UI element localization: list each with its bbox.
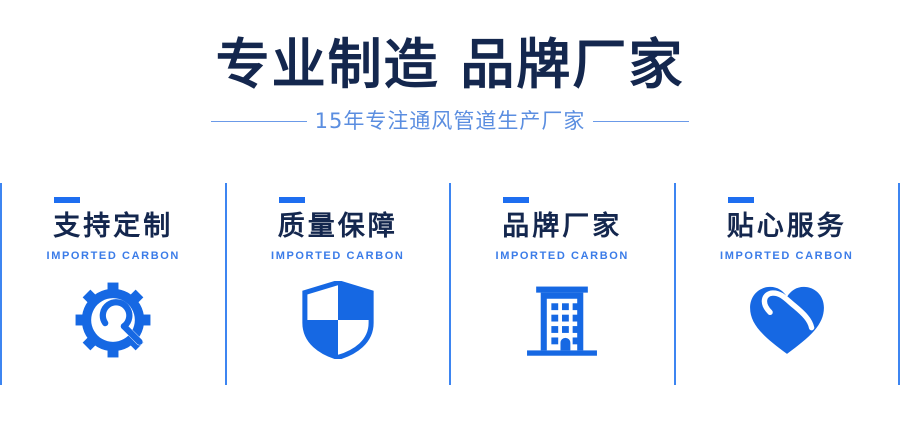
feature-title: 贴心服务 — [727, 211, 847, 243]
feature-subtitle: IMPORTED CARBON — [271, 249, 404, 263]
feature-subtitle: IMPORTED CARBON — [720, 249, 853, 263]
feature-item-brand[interactable]: 品牌厂家 IMPORTED CARBON — [451, 183, 674, 385]
feature-item-service[interactable]: 贴心服务 IMPORTED CARBON — [676, 183, 899, 385]
gear-magnifier-icon — [71, 279, 155, 361]
subtitle-rule-left — [211, 121, 307, 122]
feature-title: 品牌厂家 — [502, 211, 622, 243]
accent-dash-icon — [54, 197, 80, 203]
accent-dash-icon — [728, 197, 754, 203]
accent-dash-icon — [503, 197, 529, 203]
feature-item-quality[interactable]: 质量保障 IMPORTED CARBON — [227, 183, 450, 385]
promo-banner: 专业制造 品牌厂家 15年专注通风管道生产厂家 支持定制 IMPORTED CA… — [0, 0, 900, 424]
factory-building-icon — [520, 279, 604, 361]
accent-dash-icon — [279, 197, 305, 203]
shield-icon — [296, 279, 380, 361]
page-subtitle: 15年专注通风管道生产厂家 — [315, 108, 586, 134]
feature-subtitle: IMPORTED CARBON — [496, 249, 629, 263]
feature-title: 支持定制 — [53, 211, 173, 243]
feature-subtitle: IMPORTED CARBON — [47, 249, 180, 263]
subtitle-rule-right — [593, 121, 689, 122]
feature-item-custom[interactable]: 支持定制 IMPORTED CARBON — [2, 183, 225, 385]
heart-service-icon — [745, 279, 829, 361]
feature-list: 支持定制 IMPORTED CARBON — [0, 183, 900, 385]
page-title: 专业制造 品牌厂家 — [0, 34, 900, 96]
subtitle-row: 15年专注通风管道生产厂家 — [0, 108, 900, 134]
feature-title: 质量保障 — [278, 211, 398, 243]
banner-header: 专业制造 品牌厂家 15年专注通风管道生产厂家 — [0, 34, 900, 134]
